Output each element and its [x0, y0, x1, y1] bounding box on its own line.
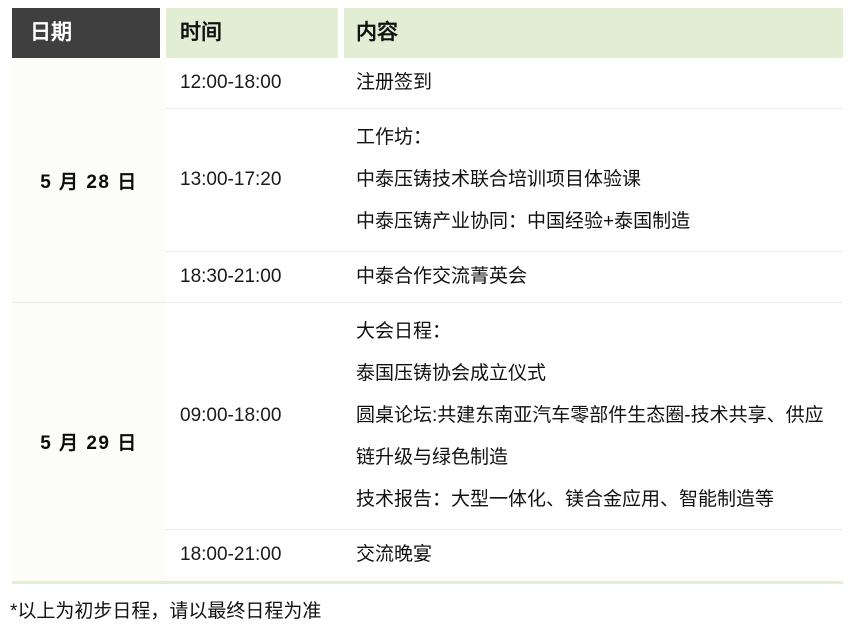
content-line: 大会日程：: [356, 311, 839, 353]
content-line: 交流晚宴: [356, 533, 839, 577]
content-cell: 中泰合作交流菁英会: [344, 251, 843, 302]
schedule-page: 日期 时间 内容 5 月 28 日 12:00-18:00 注册签到 13:00…: [0, 0, 855, 631]
content-line: 技术报告：大型一体化、镁合金应用、智能制造等: [356, 479, 839, 521]
date-cell: 5 月 29 日: [12, 302, 166, 580]
time-cell: 18:30-21:00: [166, 251, 344, 302]
content-line: 圆桌论坛:共建东南亚汽车零部件生态圈-技术共享、供应链升级与绿色制造: [356, 395, 839, 479]
content-line-list: 工作坊： 中泰压铸技术联合培训项目体验课 中泰压铸产业协同：中国经验+泰国制造: [356, 109, 839, 251]
time-cell: 13:00-17:20: [166, 108, 344, 251]
content-line-list: 大会日程： 泰国压铸协会成立仪式 圆桌论坛:共建东南亚汽车零部件生态圈-技术共享…: [356, 303, 839, 529]
column-header-date: 日期: [12, 8, 166, 58]
column-header-time: 时间: [166, 8, 344, 58]
date-cell: 5 月 28 日: [12, 58, 166, 302]
content-line: 工作坊：: [356, 117, 839, 159]
content-line: 注册签到: [356, 61, 839, 105]
content-line: 中泰压铸技术联合培训项目体验课: [356, 159, 839, 201]
footnote-text: *以上为初步日程，请以最终日程为准: [10, 596, 321, 623]
column-header-content: 内容: [344, 8, 843, 58]
time-cell: 18:00-21:00: [166, 529, 344, 580]
table-row: 5 月 28 日 12:00-18:00 注册签到: [12, 58, 843, 108]
content-line: 中泰合作交流菁英会: [356, 255, 839, 299]
content-cell: 注册签到: [344, 58, 843, 108]
time-cell: 12:00-18:00: [166, 58, 344, 108]
table-body: 5 月 28 日 12:00-18:00 注册签到 13:00-17:20 工作…: [12, 58, 843, 580]
content-line: 中泰压铸产业协同：中国经验+泰国制造: [356, 201, 839, 243]
schedule-table: 日期 时间 内容 5 月 28 日 12:00-18:00 注册签到 13:00…: [12, 8, 843, 580]
content-cell: 交流晚宴: [344, 529, 843, 580]
time-cell: 09:00-18:00: [166, 302, 344, 529]
table-header: 日期 时间 内容: [12, 8, 843, 58]
schedule-table-wrapper: 日期 时间 内容 5 月 28 日 12:00-18:00 注册签到 13:00…: [12, 8, 843, 580]
content-line: 泰国压铸协会成立仪式: [356, 353, 839, 395]
header-row: 日期 时间 内容: [12, 8, 843, 58]
content-cell: 大会日程： 泰国压铸协会成立仪式 圆桌论坛:共建东南亚汽车零部件生态圈-技术共享…: [344, 302, 843, 529]
table-bottom-rule: [12, 581, 843, 584]
content-cell: 工作坊： 中泰压铸技术联合培训项目体验课 中泰压铸产业协同：中国经验+泰国制造: [344, 108, 843, 251]
table-row: 5 月 29 日 09:00-18:00 大会日程： 泰国压铸协会成立仪式 圆桌…: [12, 302, 843, 529]
